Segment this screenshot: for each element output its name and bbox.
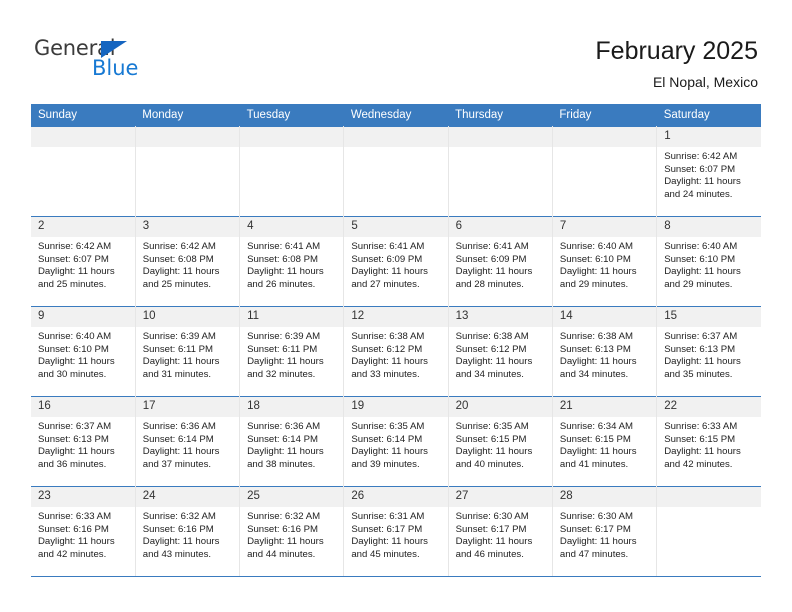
daylight-text-line2: and 41 minutes. [560,459,650,472]
weekday-header-tuesday: Tuesday [240,104,344,127]
daylight-text-line1: Daylight: 11 hours [351,266,441,279]
sunset-text: Sunset: 6:16 PM [247,524,337,537]
day-details: Sunrise: 6:40 AM Sunset: 6:10 PM Dayligh… [657,237,761,291]
day-number: 17 [136,397,239,417]
sunrise-text: Sunrise: 6:36 AM [247,421,337,434]
day-cell[interactable]: 24 Sunrise: 6:32 AM Sunset: 6:16 PM Dayl… [135,487,239,577]
day-details: Sunrise: 6:36 AM Sunset: 6:14 PM Dayligh… [136,417,239,471]
day-cell[interactable]: 4 Sunrise: 6:41 AM Sunset: 6:08 PM Dayli… [240,217,344,307]
sunset-text: Sunset: 6:15 PM [664,434,755,447]
day-number: 25 [240,487,343,507]
day-cell[interactable]: 25 Sunrise: 6:32 AM Sunset: 6:16 PM Dayl… [240,487,344,577]
day-number: 12 [344,307,447,327]
weekday-header-monday: Monday [135,104,239,127]
weekday-header-friday: Friday [552,104,656,127]
day-cell-empty [448,127,552,217]
day-cell[interactable]: 14 Sunrise: 6:38 AM Sunset: 6:13 PM Dayl… [552,307,656,397]
daylight-text-line1: Daylight: 11 hours [38,266,129,279]
daylight-text-line2: and 34 minutes. [456,369,546,382]
day-number: 13 [449,307,552,327]
day-number [344,127,447,147]
daylight-text-line1: Daylight: 11 hours [38,356,129,369]
calendar-page: General Blue February 2025 El Nopal, Mex… [0,0,792,612]
day-cell[interactable]: 28 Sunrise: 6:30 AM Sunset: 6:17 PM Dayl… [552,487,656,577]
calendar-body: 1 Sunrise: 6:42 AM Sunset: 6:07 PM Dayli… [31,127,761,577]
daylight-text-line2: and 36 minutes. [38,459,129,472]
sunset-text: Sunset: 6:11 PM [143,344,233,357]
general-blue-logo[interactable]: General Blue [34,38,214,86]
day-details: Sunrise: 6:30 AM Sunset: 6:17 PM Dayligh… [449,507,552,561]
weekday-header-sunday: Sunday [31,104,135,127]
daylight-text-line2: and 25 minutes. [143,279,233,292]
sunrise-text: Sunrise: 6:32 AM [247,511,337,524]
sunrise-text: Sunrise: 6:40 AM [664,241,755,254]
sunset-text: Sunset: 6:13 PM [560,344,650,357]
sunrise-text: Sunrise: 6:37 AM [664,331,755,344]
sunrise-text: Sunrise: 6:37 AM [38,421,129,434]
calendar-week-row: 16 Sunrise: 6:37 AM Sunset: 6:13 PM Dayl… [31,397,761,487]
calendar-grid: Sunday Monday Tuesday Wednesday Thursday… [31,104,761,577]
day-cell-empty [657,487,761,577]
daylight-text-line1: Daylight: 11 hours [560,446,650,459]
daylight-text-line2: and 37 minutes. [143,459,233,472]
daylight-text-line2: and 43 minutes. [143,549,233,562]
daylight-text-line1: Daylight: 11 hours [456,446,546,459]
day-number: 19 [344,397,447,417]
sunset-text: Sunset: 6:09 PM [456,254,546,267]
day-number: 9 [31,307,135,327]
day-cell[interactable]: 10 Sunrise: 6:39 AM Sunset: 6:11 PM Dayl… [135,307,239,397]
sunset-text: Sunset: 6:17 PM [456,524,546,537]
sunrise-text: Sunrise: 6:41 AM [456,241,546,254]
sunrise-text: Sunrise: 6:41 AM [247,241,337,254]
day-number: 5 [344,217,447,237]
daylight-text-line1: Daylight: 11 hours [560,266,650,279]
day-number: 11 [240,307,343,327]
day-details: Sunrise: 6:38 AM Sunset: 6:13 PM Dayligh… [553,327,656,381]
daylight-text-line1: Daylight: 11 hours [351,536,441,549]
logo-text-blue: Blue [92,58,138,79]
daylight-text-line2: and 46 minutes. [456,549,546,562]
calendar-week-row: 2 Sunrise: 6:42 AM Sunset: 6:07 PM Dayli… [31,217,761,307]
sunset-text: Sunset: 6:14 PM [351,434,441,447]
daylight-text-line2: and 27 minutes. [351,279,441,292]
daylight-text-line1: Daylight: 11 hours [664,356,755,369]
sunrise-text: Sunrise: 6:42 AM [38,241,129,254]
sunset-text: Sunset: 6:08 PM [247,254,337,267]
daylight-text-line1: Daylight: 11 hours [560,356,650,369]
daylight-text-line1: Daylight: 11 hours [351,356,441,369]
weekday-header-wednesday: Wednesday [344,104,448,127]
day-number: 8 [657,217,761,237]
day-details: Sunrise: 6:39 AM Sunset: 6:11 PM Dayligh… [240,327,343,381]
sunset-text: Sunset: 6:10 PM [664,254,755,267]
sunrise-text: Sunrise: 6:42 AM [143,241,233,254]
sunset-text: Sunset: 6:13 PM [38,434,129,447]
day-number [136,127,239,147]
sunrise-text: Sunrise: 6:39 AM [247,331,337,344]
day-number: 4 [240,217,343,237]
sunset-text: Sunset: 6:13 PM [664,344,755,357]
calendar-week-row: 23 Sunrise: 6:33 AM Sunset: 6:16 PM Dayl… [31,487,761,577]
day-number: 26 [344,487,447,507]
day-details: Sunrise: 6:38 AM Sunset: 6:12 PM Dayligh… [449,327,552,381]
day-details: Sunrise: 6:38 AM Sunset: 6:12 PM Dayligh… [344,327,447,381]
sunset-text: Sunset: 6:07 PM [664,164,755,177]
day-number: 7 [553,217,656,237]
sunrise-text: Sunrise: 6:40 AM [560,241,650,254]
sunrise-text: Sunrise: 6:38 AM [456,331,546,344]
sunset-text: Sunset: 6:07 PM [38,254,129,267]
sunrise-text: Sunrise: 6:33 AM [38,511,129,524]
sunset-text: Sunset: 6:08 PM [143,254,233,267]
sunrise-text: Sunrise: 6:38 AM [351,331,441,344]
day-details: Sunrise: 6:41 AM Sunset: 6:09 PM Dayligh… [449,237,552,291]
daylight-text-line2: and 35 minutes. [664,369,755,382]
sunset-text: Sunset: 6:14 PM [247,434,337,447]
day-number [657,487,761,507]
sunrise-text: Sunrise: 6:32 AM [143,511,233,524]
day-cell[interactable]: 3 Sunrise: 6:42 AM Sunset: 6:08 PM Dayli… [135,217,239,307]
daylight-text-line1: Daylight: 11 hours [456,266,546,279]
day-cell[interactable]: 2 Sunrise: 6:42 AM Sunset: 6:07 PM Dayli… [31,217,135,307]
day-cell[interactable]: 5 Sunrise: 6:41 AM Sunset: 6:09 PM Dayli… [344,217,448,307]
daylight-text-line2: and 25 minutes. [38,279,129,292]
day-cell[interactable]: 27 Sunrise: 6:30 AM Sunset: 6:17 PM Dayl… [448,487,552,577]
daylight-text-line1: Daylight: 11 hours [143,446,233,459]
day-number: 2 [31,217,135,237]
day-number: 14 [553,307,656,327]
day-details: Sunrise: 6:37 AM Sunset: 6:13 PM Dayligh… [657,327,761,381]
daylight-text-line1: Daylight: 11 hours [456,356,546,369]
sunrise-text: Sunrise: 6:30 AM [560,511,650,524]
day-number: 16 [31,397,135,417]
day-cell-empty [344,127,448,217]
sunset-text: Sunset: 6:10 PM [38,344,129,357]
day-number: 23 [31,487,135,507]
day-details: Sunrise: 6:30 AM Sunset: 6:17 PM Dayligh… [553,507,656,561]
day-cell-empty [552,127,656,217]
day-cell[interactable]: 22 Sunrise: 6:33 AM Sunset: 6:15 PM Dayl… [657,397,761,487]
daylight-text-line2: and 47 minutes. [560,549,650,562]
daylight-text-line1: Daylight: 11 hours [664,446,755,459]
sunrise-text: Sunrise: 6:39 AM [143,331,233,344]
daylight-text-line1: Daylight: 11 hours [247,536,337,549]
day-number: 28 [553,487,656,507]
daylight-text-line2: and 38 minutes. [247,459,337,472]
sunset-text: Sunset: 6:09 PM [351,254,441,267]
calendar-header-row: Sunday Monday Tuesday Wednesday Thursday… [31,104,761,127]
day-number [449,127,552,147]
daylight-text-line1: Daylight: 11 hours [38,446,129,459]
title-block: February 2025 El Nopal, Mexico [595,36,758,92]
page-title: February 2025 [595,36,758,66]
day-cell[interactable]: 15 Sunrise: 6:37 AM Sunset: 6:13 PM Dayl… [657,307,761,397]
day-details: Sunrise: 6:39 AM Sunset: 6:11 PM Dayligh… [136,327,239,381]
sunrise-text: Sunrise: 6:36 AM [143,421,233,434]
day-number: 3 [136,217,239,237]
sunrise-text: Sunrise: 6:35 AM [456,421,546,434]
daylight-text-line1: Daylight: 11 hours [143,536,233,549]
calendar-week-row: 1 Sunrise: 6:42 AM Sunset: 6:07 PM Dayli… [31,127,761,217]
sunrise-text: Sunrise: 6:33 AM [664,421,755,434]
day-details: Sunrise: 6:37 AM Sunset: 6:13 PM Dayligh… [31,417,135,471]
day-cell[interactable]: 17 Sunrise: 6:36 AM Sunset: 6:14 PM Dayl… [135,397,239,487]
day-cell[interactable]: 26 Sunrise: 6:31 AM Sunset: 6:17 PM Dayl… [344,487,448,577]
calendar-week-row: 9 Sunrise: 6:40 AM Sunset: 6:10 PM Dayli… [31,307,761,397]
daylight-text-line2: and 30 minutes. [38,369,129,382]
day-details: Sunrise: 6:34 AM Sunset: 6:15 PM Dayligh… [553,417,656,471]
day-cell[interactable]: 16 Sunrise: 6:37 AM Sunset: 6:13 PM Dayl… [31,397,135,487]
daylight-text-line2: and 32 minutes. [247,369,337,382]
daylight-text-line1: Daylight: 11 hours [247,356,337,369]
day-details: Sunrise: 6:32 AM Sunset: 6:16 PM Dayligh… [240,507,343,561]
page-subtitle-location: El Nopal, Mexico [595,72,758,92]
daylight-text-line2: and 42 minutes. [38,549,129,562]
weekday-header-thursday: Thursday [448,104,552,127]
day-details: Sunrise: 6:35 AM Sunset: 6:15 PM Dayligh… [449,417,552,471]
sunrise-text: Sunrise: 6:30 AM [456,511,546,524]
daylight-text-line1: Daylight: 11 hours [143,266,233,279]
day-cell[interactable]: 20 Sunrise: 6:35 AM Sunset: 6:15 PM Dayl… [448,397,552,487]
daylight-text-line1: Daylight: 11 hours [247,446,337,459]
day-number: 20 [449,397,552,417]
day-details: Sunrise: 6:36 AM Sunset: 6:14 PM Dayligh… [240,417,343,471]
day-cell[interactable]: 23 Sunrise: 6:33 AM Sunset: 6:16 PM Dayl… [31,487,135,577]
day-cell[interactable]: 12 Sunrise: 6:38 AM Sunset: 6:12 PM Dayl… [344,307,448,397]
daylight-text-line2: and 33 minutes. [351,369,441,382]
day-details: Sunrise: 6:42 AM Sunset: 6:07 PM Dayligh… [657,147,761,201]
day-details: Sunrise: 6:41 AM Sunset: 6:09 PM Dayligh… [344,237,447,291]
sunrise-text: Sunrise: 6:41 AM [351,241,441,254]
daylight-text-line2: and 34 minutes. [560,369,650,382]
daylight-text-line1: Daylight: 11 hours [664,266,755,279]
day-cell[interactable]: 6 Sunrise: 6:41 AM Sunset: 6:09 PM Dayli… [448,217,552,307]
day-details: Sunrise: 6:31 AM Sunset: 6:17 PM Dayligh… [344,507,447,561]
day-number: 27 [449,487,552,507]
day-details: Sunrise: 6:42 AM Sunset: 6:08 PM Dayligh… [136,237,239,291]
daylight-text-line1: Daylight: 11 hours [247,266,337,279]
day-cell[interactable]: 18 Sunrise: 6:36 AM Sunset: 6:14 PM Dayl… [240,397,344,487]
sunset-text: Sunset: 6:12 PM [351,344,441,357]
day-details: Sunrise: 6:33 AM Sunset: 6:15 PM Dayligh… [657,417,761,471]
sunrise-text: Sunrise: 6:31 AM [351,511,441,524]
sunset-text: Sunset: 6:11 PM [247,344,337,357]
day-cell[interactable]: 7 Sunrise: 6:40 AM Sunset: 6:10 PM Dayli… [552,217,656,307]
daylight-text-line2: and 42 minutes. [664,459,755,472]
day-cell[interactable]: 1 Sunrise: 6:42 AM Sunset: 6:07 PM Dayli… [657,127,761,217]
sunset-text: Sunset: 6:17 PM [351,524,441,537]
weekday-header-saturday: Saturday [657,104,761,127]
day-number [553,127,656,147]
day-cell[interactable]: 11 Sunrise: 6:39 AM Sunset: 6:11 PM Dayl… [240,307,344,397]
sunrise-text: Sunrise: 6:40 AM [38,331,129,344]
daylight-text-line1: Daylight: 11 hours [143,356,233,369]
day-cell-empty [31,127,135,217]
day-cell[interactable]: 19 Sunrise: 6:35 AM Sunset: 6:14 PM Dayl… [344,397,448,487]
daylight-text-line1: Daylight: 11 hours [664,176,755,189]
day-details: Sunrise: 6:40 AM Sunset: 6:10 PM Dayligh… [553,237,656,291]
daylight-text-line2: and 45 minutes. [351,549,441,562]
daylight-text-line2: and 31 minutes. [143,369,233,382]
sunrise-text: Sunrise: 6:42 AM [664,151,755,164]
sunset-text: Sunset: 6:10 PM [560,254,650,267]
sunrise-text: Sunrise: 6:38 AM [560,331,650,344]
day-number: 22 [657,397,761,417]
day-number [31,127,135,147]
day-number: 18 [240,397,343,417]
sunset-text: Sunset: 6:16 PM [38,524,129,537]
sunrise-text: Sunrise: 6:35 AM [351,421,441,434]
day-details: Sunrise: 6:33 AM Sunset: 6:16 PM Dayligh… [31,507,135,561]
day-cell-empty [135,127,239,217]
day-number: 10 [136,307,239,327]
daylight-text-line2: and 40 minutes. [456,459,546,472]
day-number: 6 [449,217,552,237]
daylight-text-line2: and 44 minutes. [247,549,337,562]
sunset-text: Sunset: 6:14 PM [143,434,233,447]
day-details: Sunrise: 6:32 AM Sunset: 6:16 PM Dayligh… [136,507,239,561]
day-details: Sunrise: 6:40 AM Sunset: 6:10 PM Dayligh… [31,327,135,381]
daylight-text-line2: and 29 minutes. [664,279,755,292]
daylight-text-line2: and 28 minutes. [456,279,546,292]
daylight-text-line2: and 39 minutes. [351,459,441,472]
daylight-text-line1: Daylight: 11 hours [560,536,650,549]
day-cell[interactable]: 8 Sunrise: 6:40 AM Sunset: 6:10 PM Dayli… [657,217,761,307]
sunset-text: Sunset: 6:16 PM [143,524,233,537]
day-cell[interactable]: 21 Sunrise: 6:34 AM Sunset: 6:15 PM Dayl… [552,397,656,487]
daylight-text-line2: and 24 minutes. [664,189,755,202]
daylight-text-line1: Daylight: 11 hours [456,536,546,549]
daylight-text-line2: and 26 minutes. [247,279,337,292]
sunrise-text: Sunrise: 6:34 AM [560,421,650,434]
sunset-text: Sunset: 6:15 PM [456,434,546,447]
day-cell-empty [240,127,344,217]
day-number: 15 [657,307,761,327]
day-number: 24 [136,487,239,507]
day-number [240,127,343,147]
sunset-text: Sunset: 6:12 PM [456,344,546,357]
sunset-text: Sunset: 6:15 PM [560,434,650,447]
day-cell[interactable]: 9 Sunrise: 6:40 AM Sunset: 6:10 PM Dayli… [31,307,135,397]
sunset-text: Sunset: 6:17 PM [560,524,650,537]
day-details: Sunrise: 6:41 AM Sunset: 6:08 PM Dayligh… [240,237,343,291]
daylight-text-line2: and 29 minutes. [560,279,650,292]
day-cell[interactable]: 13 Sunrise: 6:38 AM Sunset: 6:12 PM Dayl… [448,307,552,397]
day-number: 1 [657,127,761,147]
page-header: General Blue February 2025 El Nopal, Mex… [0,0,792,100]
day-number: 21 [553,397,656,417]
daylight-text-line1: Daylight: 11 hours [351,446,441,459]
day-details: Sunrise: 6:42 AM Sunset: 6:07 PM Dayligh… [31,237,135,291]
daylight-text-line1: Daylight: 11 hours [38,536,129,549]
day-details: Sunrise: 6:35 AM Sunset: 6:14 PM Dayligh… [344,417,447,471]
